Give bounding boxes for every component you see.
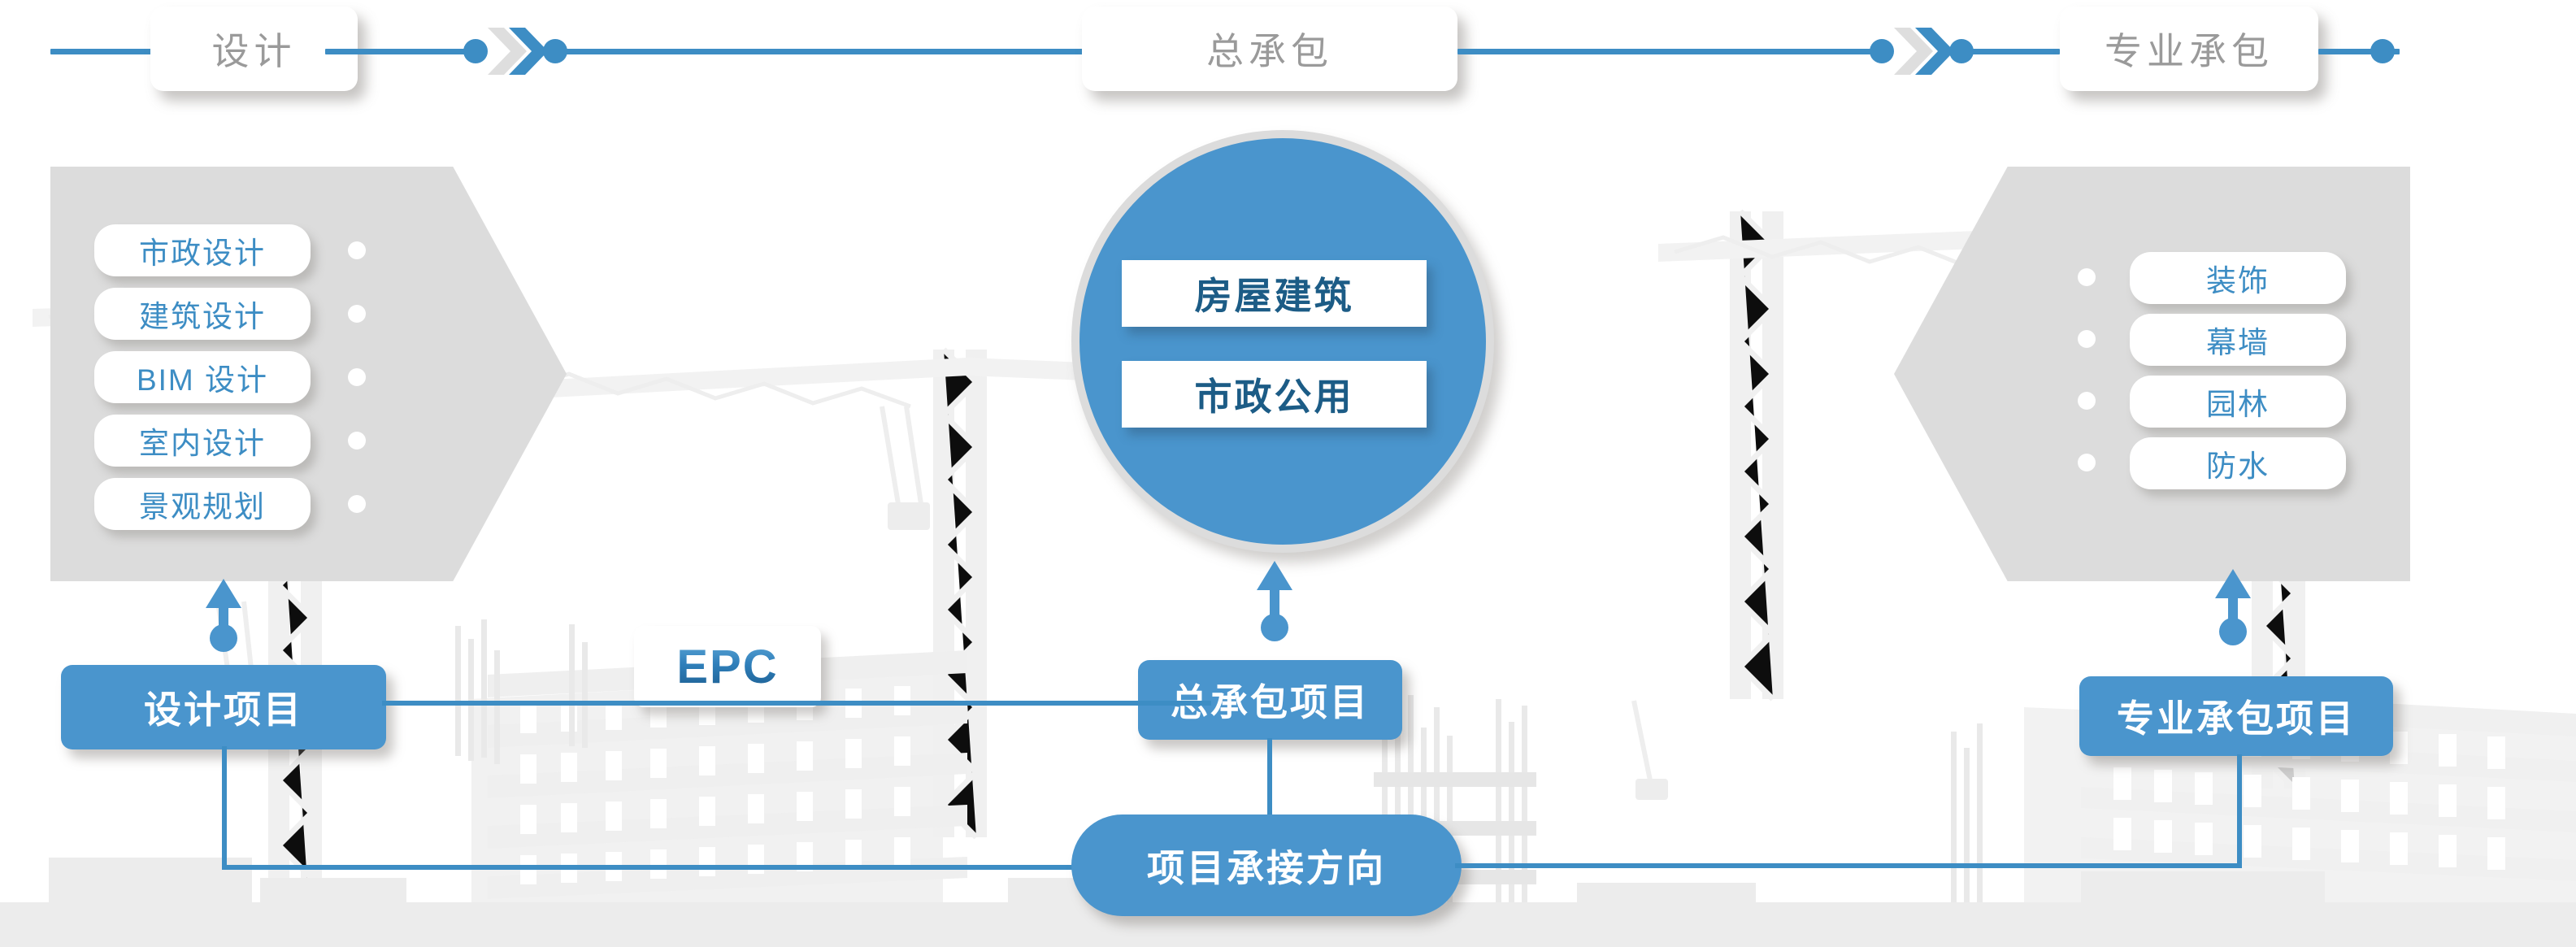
left-bullet-4	[348, 432, 366, 450]
project-direction-capsule[interactable]: 项目承接方向	[1071, 815, 1462, 916]
tab-specialty-contracting[interactable]: 专业承包	[2060, 7, 2318, 91]
right-item-3[interactable]: 园林	[2130, 376, 2346, 428]
flow-line-segment-4	[1457, 49, 1880, 54]
left-bullet-3	[348, 368, 366, 386]
flow-line-segment-5	[1970, 49, 2060, 54]
left-bullet-5	[348, 495, 366, 513]
left-item-4[interactable]: 室内设计	[94, 415, 311, 467]
diagram-canvas: 设计 总承包 专业承包 市政设计 建筑设计 BIM 设计 室内设计 景	[0, 0, 2576, 947]
right-item-2-label: 幕墙	[2206, 318, 2270, 362]
left-item-4-label: 室内设计	[139, 419, 266, 463]
left-item-3[interactable]: BIM 设计	[94, 351, 311, 403]
tab-general-contracting[interactable]: 总承包	[1082, 7, 1457, 91]
epc-label: EPC	[676, 640, 778, 694]
flow-dot-2	[463, 39, 488, 63]
project-direction-label: 项目承接方向	[1147, 839, 1386, 893]
left-item-1[interactable]: 市政设计	[94, 224, 311, 276]
right-item-3-label: 园林	[2206, 380, 2270, 424]
flow-line-segment-2	[325, 49, 480, 54]
right-item-4[interactable]: 防水	[2130, 437, 2346, 489]
epc-badge: EPC	[634, 626, 821, 707]
left-bullet-1	[348, 241, 366, 259]
connector-design-down	[222, 746, 227, 870]
left-item-2[interactable]: 建筑设计	[94, 288, 311, 340]
center-box-building[interactable]: 房屋建筑	[1122, 260, 1427, 327]
right-item-2[interactable]: 幕墙	[2130, 314, 2346, 366]
center-box-building-label: 房屋建筑	[1195, 267, 1354, 320]
double-chevron-right-icon-2	[1892, 26, 1954, 76]
center-box-municipal-label: 市政公用	[1195, 367, 1354, 421]
specialty-project-box[interactable]: 专业承包项目	[2079, 676, 2393, 756]
general-project-label: 总承包项目	[1171, 673, 1370, 727]
left-item-2-label: 建筑设计	[139, 292, 266, 336]
flow-line-segment-3	[564, 49, 1086, 54]
right-bullet-3	[2078, 392, 2096, 410]
right-item-1-label: 装饰	[2206, 256, 2270, 300]
design-project-box[interactable]: 设计项目	[61, 665, 386, 749]
right-item-1[interactable]: 装饰	[2130, 252, 2346, 304]
connector-specialty-left	[1455, 863, 2242, 868]
design-project-label: 设计项目	[144, 680, 303, 734]
arrow-dot-general	[1261, 614, 1288, 641]
center-scope-circle	[1071, 130, 1494, 553]
arrow-dot-specialty	[2219, 618, 2247, 645]
left-bullet-2	[348, 305, 366, 323]
connector-general-down	[1267, 738, 1272, 819]
tab-design-label: 设计	[212, 22, 297, 76]
double-chevron-right-icon	[486, 26, 548, 76]
connector-design-right	[222, 865, 1084, 870]
connector-specialty-down	[2237, 754, 2242, 867]
left-item-1-label: 市政设计	[139, 228, 266, 272]
right-specialty-panel	[1894, 167, 2410, 581]
specialty-project-label: 专业承包项目	[2117, 689, 2356, 743]
tab-general-contracting-label: 总承包	[1206, 22, 1333, 76]
flow-dot-6	[2370, 39, 2395, 63]
left-item-3-label: BIM 设计	[137, 355, 268, 399]
flow-dot-4	[1870, 39, 1894, 63]
connector-epc-line	[382, 701, 1211, 706]
center-box-municipal[interactable]: 市政公用	[1122, 361, 1427, 428]
tab-specialty-contracting-label: 专业承包	[2105, 22, 2274, 76]
right-bullet-1	[2078, 268, 2096, 286]
left-item-5[interactable]: 景观规划	[94, 478, 311, 530]
general-project-box[interactable]: 总承包项目	[1138, 660, 1402, 740]
right-bullet-2	[2078, 330, 2096, 348]
arrow-dot-design	[210, 624, 237, 652]
right-item-4-label: 防水	[2206, 441, 2270, 485]
left-item-5-label: 景观规划	[139, 482, 266, 526]
right-bullet-4	[2078, 454, 2096, 471]
